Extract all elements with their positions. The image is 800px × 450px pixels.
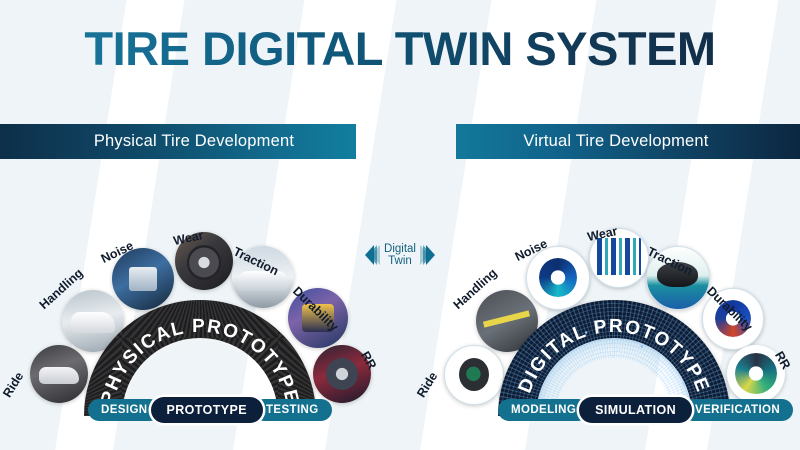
left-chevron-group — [368, 245, 377, 265]
stage-pill-modeling[interactable]: MODELING — [498, 399, 589, 421]
chevron-left-icon — [371, 245, 380, 265]
attribute-label-ride: Ride — [0, 370, 26, 400]
digital-twin-label: Digital Twin — [384, 243, 416, 268]
attribute-bubble-ride-sim[interactable] — [444, 345, 504, 405]
stage-pill-design[interactable]: DESIGN — [88, 399, 161, 421]
physical-prototype-text: PHYSICAL PROTOTYPE — [97, 316, 302, 407]
digital-twin-label-line2: Twin — [384, 255, 416, 268]
virtual-stage-bar: MODELING SIMULATION VERIFICATION — [498, 397, 793, 423]
physical-stage-bar: DESIGN PROTOTYPE TESTING — [88, 397, 332, 423]
digital-twin-connector: Digital Twin — [316, 232, 484, 278]
stage-pill-verification[interactable]: VERIFICATION — [682, 399, 793, 421]
banner-left-label: Physical Tire Development — [0, 132, 356, 151]
svg-text:PHYSICAL PROTOTYPE: PHYSICAL PROTOTYPE — [97, 316, 302, 407]
digital-prototype-text: DIGITAL PROTOTYPE — [515, 316, 714, 396]
svg-text:DIGITAL PROTOTYPE: DIGITAL PROTOTYPE — [515, 316, 714, 396]
page-title: TIRE DIGITAL TWIN SYSTEM — [0, 21, 800, 76]
stage-pill-prototype[interactable]: PROTOTYPE — [151, 397, 263, 423]
right-chevron-group — [423, 245, 432, 265]
banner-virtual-tire-development: Virtual Tire Development — [456, 124, 800, 159]
chevron-right-icon — [423, 245, 432, 265]
attribute-label-ride-sim: Ride — [414, 370, 440, 400]
digital-twin-label-line1: Digital — [384, 243, 416, 256]
poster-canvas: TIRE DIGITAL TWIN SYSTEM Physical Tire D… — [0, 0, 800, 450]
banner-physical-tire-development: Physical Tire Development — [0, 124, 356, 159]
banner-right-label: Virtual Tire Development — [456, 132, 800, 151]
attribute-bubble-ride[interactable] — [30, 345, 88, 403]
stage-pill-testing[interactable]: TESTING — [253, 399, 332, 421]
virtual-tire-diagram: Ride Handling Noise Wear Traction Durabi… — [400, 190, 800, 450]
stage-pill-simulation[interactable]: SIMULATION — [579, 397, 692, 423]
physical-tire-diagram: Ride Handling Noise Wear Traction Durabi… — [0, 190, 400, 450]
